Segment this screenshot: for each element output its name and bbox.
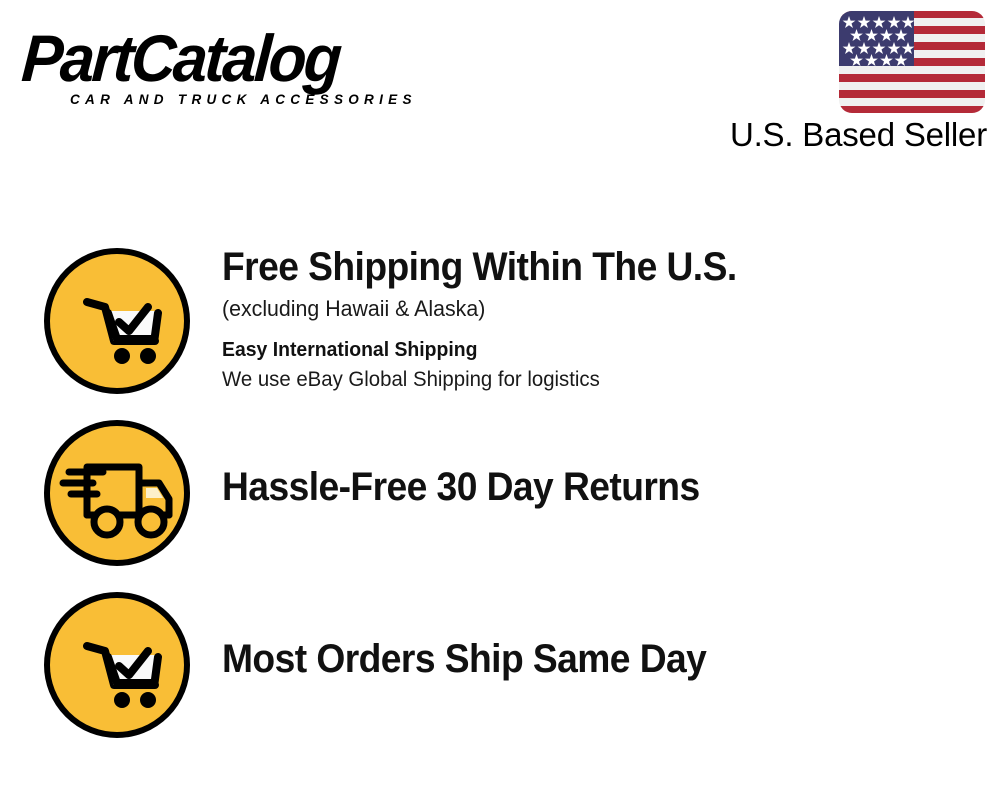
brand-wordmark: PartCatalog xyxy=(20,22,467,94)
banner-header: PartCatalog CAR AND TRUCK ACCESSORIES xyxy=(0,0,1000,170)
feature-secondary-heading: Easy International Shipping xyxy=(222,336,977,364)
us-based-seller-label: U.S. Based Seller xyxy=(712,116,987,154)
feature-heading: Hassle-Free 30 Day Returns xyxy=(222,465,946,510)
us-based-seller-badge: U.S. Based Seller xyxy=(712,10,988,154)
feature-heading: Free Shipping Within The U.S. xyxy=(222,245,946,290)
feature-text-block: Hassle-Free 30 Day Returns xyxy=(222,417,1000,510)
feature-text-block: Free Shipping Within The U.S. (excluding… xyxy=(222,245,1000,394)
brand-logo[interactable]: PartCatalog CAR AND TRUCK ACCESSORIES xyxy=(22,22,492,117)
feature-text-block: Most Orders Ship Same Day xyxy=(222,589,1000,682)
feature-secondary-note: We use eBay Global Shipping for logistic… xyxy=(222,365,977,394)
shopping-cart-check-icon xyxy=(41,589,193,741)
delivery-truck-icon xyxy=(41,417,193,569)
us-flag-icon xyxy=(838,10,986,114)
feature-subtext: (excluding Hawaii & Alaska) xyxy=(222,294,977,324)
shopping-cart-check-icon xyxy=(41,245,193,397)
feature-row: Most Orders Ship Same Day xyxy=(0,589,1000,741)
feature-heading: Most Orders Ship Same Day xyxy=(222,637,946,682)
feature-row: Hassle-Free 30 Day Returns xyxy=(0,417,1000,569)
feature-row: Free Shipping Within The U.S. (excluding… xyxy=(0,245,1000,397)
